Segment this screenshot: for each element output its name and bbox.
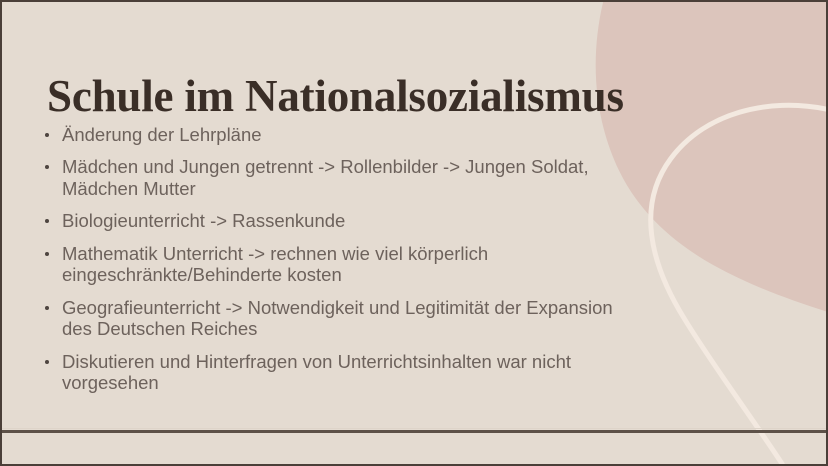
bullet-list: Änderung der Lehrpläne Mädchen und Junge… bbox=[42, 124, 702, 405]
bullet-text: Biologieunterricht -> Rassenkunde bbox=[62, 210, 702, 231]
list-item: Biologieunterricht -> Rassenkunde bbox=[42, 210, 702, 231]
list-item: Geografieunterricht -> Notwendigkeit und… bbox=[42, 297, 702, 340]
presentation-slide: Schule im Nationalsozialismus Änderung d… bbox=[0, 0, 828, 466]
bullet-text: Mädchen und Jungen getrennt -> Rollenbil… bbox=[62, 156, 702, 199]
list-item: Mädchen und Jungen getrennt -> Rollenbil… bbox=[42, 156, 702, 199]
list-item: Änderung der Lehrpläne bbox=[42, 124, 702, 145]
bullet-text: Mathematik Unterricht -> rechnen wie vie… bbox=[62, 243, 702, 286]
bullet-text: Geografieunterricht -> Notwendigkeit und… bbox=[62, 297, 702, 340]
list-item: Mathematik Unterricht -> rechnen wie vie… bbox=[42, 243, 702, 286]
bullet-text: Diskutieren und Hinterfragen von Unterri… bbox=[62, 351, 702, 394]
bullet-text: Änderung der Lehrpläne bbox=[62, 124, 702, 145]
footer-divider bbox=[2, 430, 826, 433]
slide-title: Schule im Nationalsozialismus bbox=[47, 72, 624, 122]
list-item: Diskutieren und Hinterfragen von Unterri… bbox=[42, 351, 702, 394]
